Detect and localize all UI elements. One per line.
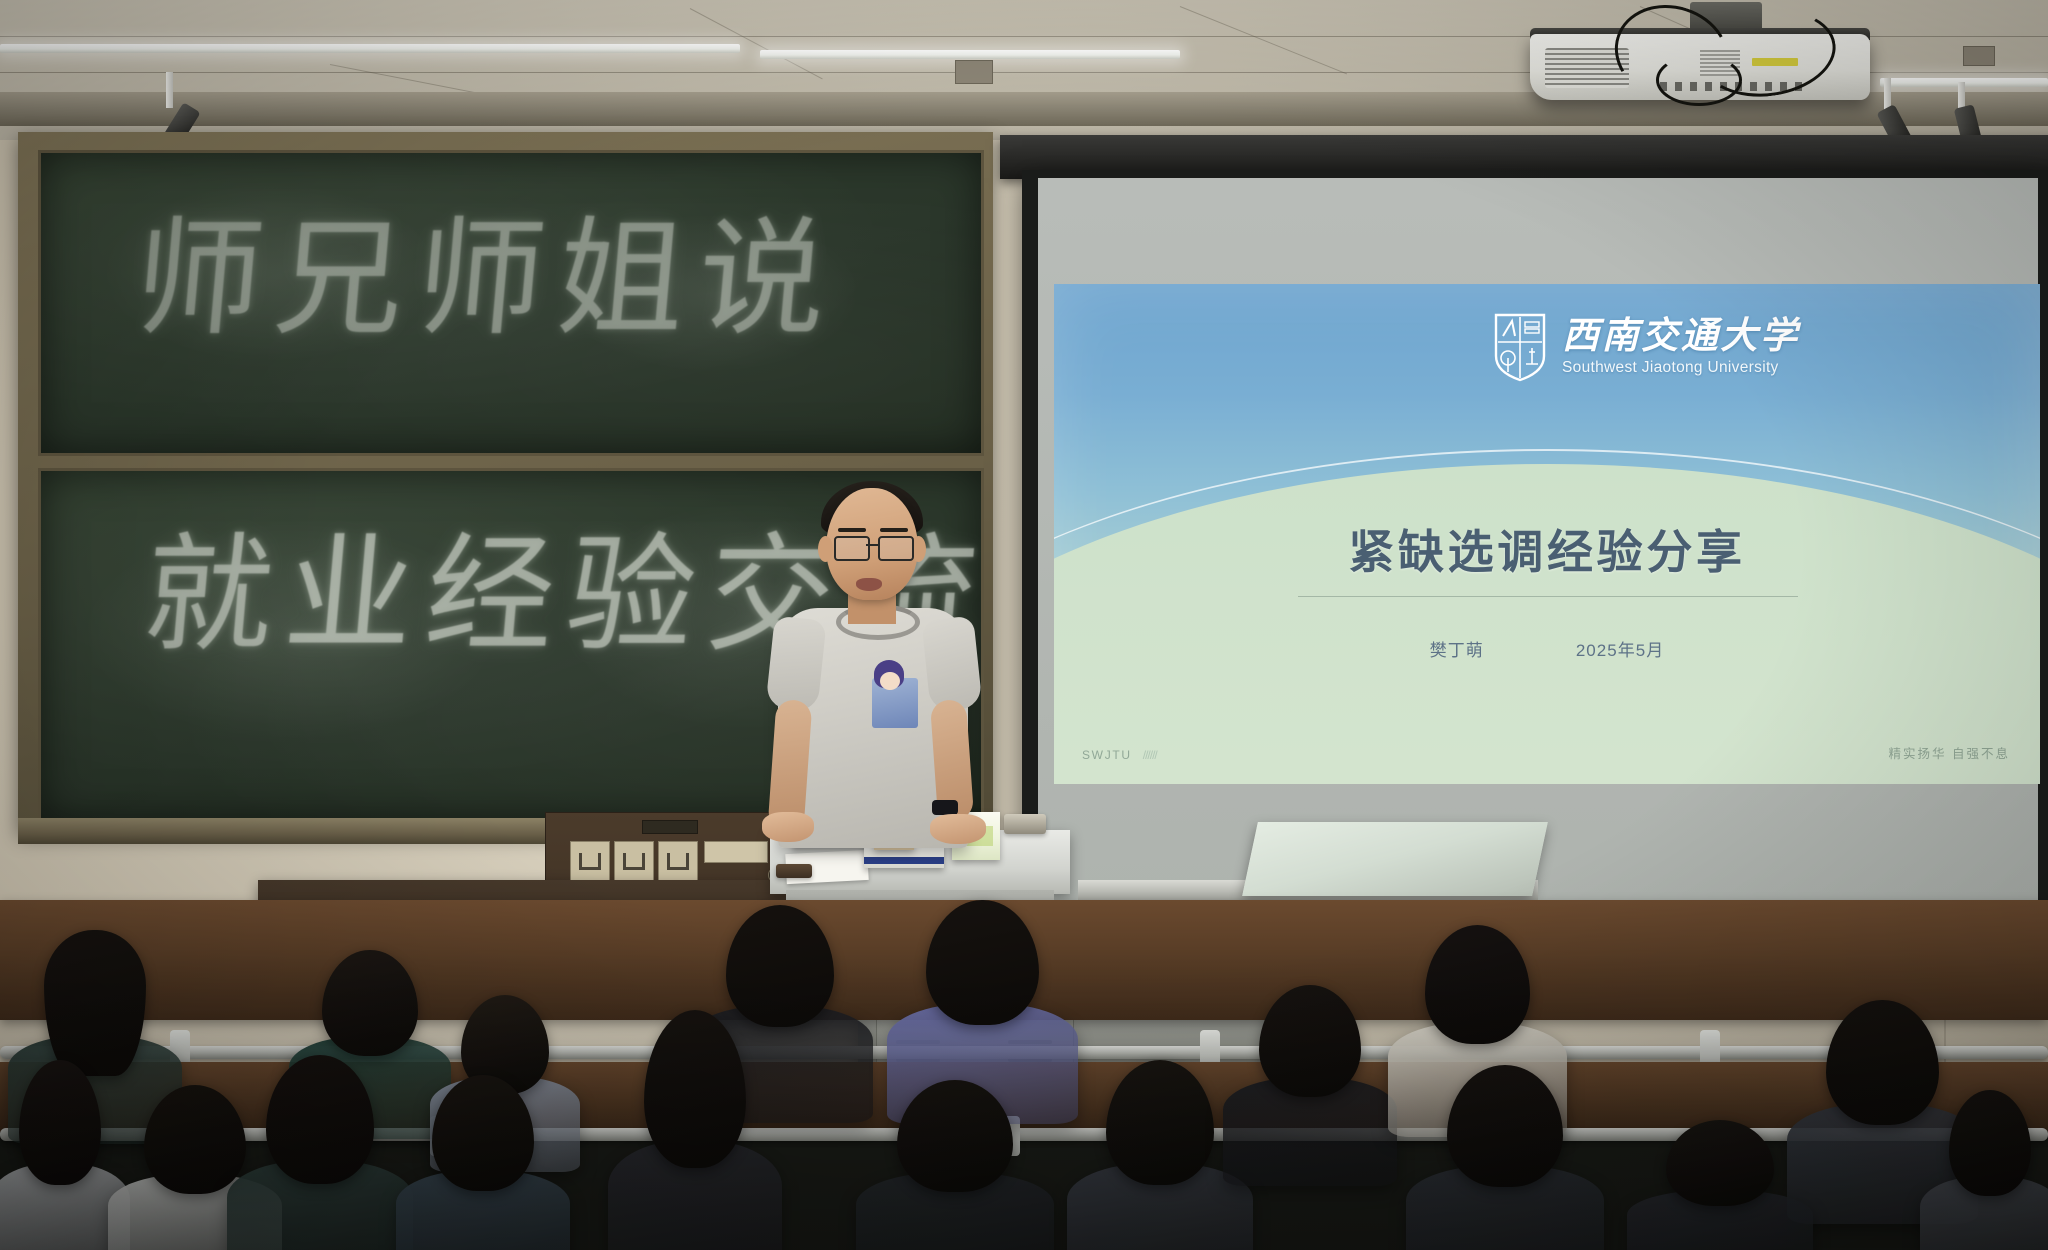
audience-person-head (1666, 1120, 1775, 1206)
power-outlet[interactable] (614, 841, 654, 881)
audience-person (1930, 1090, 2048, 1250)
audience-person (1640, 1120, 1800, 1250)
audience-person-head (897, 1080, 1013, 1192)
presenter-hand-right (930, 814, 986, 844)
audience-person-head (926, 900, 1038, 1025)
slide-meta-row: 樊丁萌 2025年5月 (1054, 636, 2040, 661)
slide-footer-hash-marks: ////// (1143, 748, 1157, 762)
slide-footer-left: SWJTU ////// (1082, 748, 1157, 762)
blackboard-upper-panel: 师兄师姐说 (38, 150, 984, 456)
audience-person (0, 1060, 120, 1250)
slide-footer-abbr: SWJTU (1082, 748, 1132, 762)
ceiling-strip-light (0, 44, 740, 53)
university-name-block: 西南交通大学 Southwest Jiaotong University (1562, 318, 1800, 377)
presenter-brow (838, 528, 866, 532)
power-outlet[interactable] (570, 841, 610, 881)
presenter-wristwatch (932, 800, 958, 815)
audience-person-head (266, 1055, 375, 1184)
audience-person (900, 900, 1065, 1090)
cabinet-slide-out-shelf[interactable] (1242, 822, 1548, 896)
blackboard-chalk-text-top: 师兄师姐说 (128, 175, 848, 360)
audience-person-head (1826, 1000, 1938, 1125)
slide-title: 紧缺选调经验分享 (1054, 516, 2040, 582)
audience-person-head (1259, 985, 1361, 1097)
audience-person (870, 1080, 1040, 1250)
university-name-cn: 西南交通大学 (1562, 318, 1800, 355)
presenter-glasses-left-lens (834, 536, 870, 561)
presenter-shirt-anime-face-icon (880, 672, 900, 690)
audience-person-head (1106, 1060, 1215, 1185)
podium-small-device[interactable] (776, 864, 812, 878)
network-port-strip[interactable] (704, 841, 768, 863)
panel-label-slot (642, 820, 698, 834)
audience-person (408, 1075, 558, 1250)
audience-person-head (322, 950, 417, 1056)
presentation-slide: 西南交通大学 Southwest Jiaotong University 紧缺选… (1054, 284, 2040, 784)
audience-person-head (19, 1060, 101, 1185)
audience-person (1235, 985, 1385, 1155)
presenter-glasses-right-lens (878, 536, 914, 561)
box-band (864, 857, 944, 864)
audience-person-head (726, 905, 835, 1027)
slide-title-divider (1298, 596, 1798, 597)
presenter-sleeve-right (921, 616, 982, 713)
audience-person-head (1949, 1090, 2031, 1196)
presenter-hand-left (762, 812, 814, 842)
podium-remote-device[interactable] (1004, 814, 1046, 834)
audience-person (1080, 1060, 1240, 1250)
audience-person-head (1425, 925, 1530, 1044)
slide-date: 2025年5月 (1576, 636, 1664, 661)
presenter-glasses-bridge (866, 544, 878, 546)
audience-person-head (44, 930, 146, 1076)
power-outlet[interactable] (658, 841, 698, 881)
audience-person-head (144, 1085, 246, 1194)
audience-person (240, 1055, 400, 1250)
presenter-ear (818, 536, 833, 562)
ceiling-vent (1963, 46, 1995, 66)
ceiling-vent (955, 60, 993, 84)
audience-person-head (644, 1010, 746, 1168)
university-logo-lockup: 西南交通大学 Southwest Jiaotong University (1492, 312, 1800, 382)
slide-arc-highlight (1054, 449, 2040, 784)
audience-person-head (1447, 1065, 1563, 1187)
slide-presenter-name: 樊丁萌 (1430, 636, 1484, 661)
projector-cable (1656, 54, 1742, 106)
presenter-mouth (856, 578, 882, 591)
presenter-brow (880, 528, 908, 532)
audience-person (1420, 1065, 1590, 1250)
lecture-hall-photo: 挂钟时间仅供参考 考试以铃声信号为准 视频监控区域 考场内禁止 (0, 0, 2048, 1250)
ceiling-strip-light (760, 50, 1180, 59)
university-crest-icon (1492, 312, 1548, 382)
university-name-en: Southwest Jiaotong University (1562, 359, 1800, 377)
audience-person-head (432, 1075, 534, 1191)
audience-person (620, 1010, 770, 1250)
slide-footer-motto: 精实扬华 自强不息 (1889, 743, 2010, 762)
